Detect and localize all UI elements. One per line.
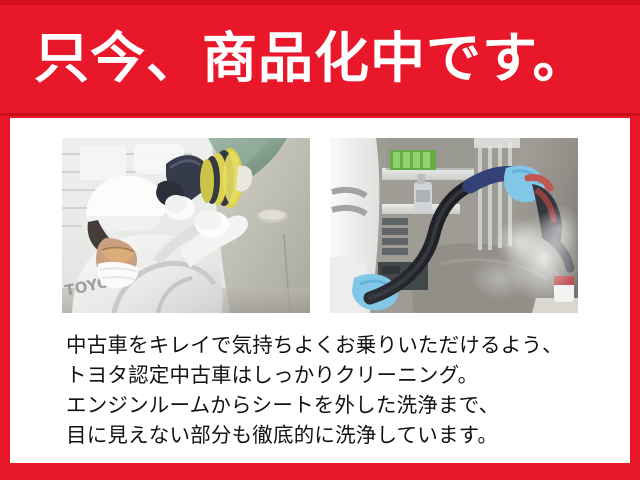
- body-line-3: エンジンルームからシートを外した洗浄まで、: [66, 390, 596, 420]
- body-line-4: 目に見えない部分も徹底的に洗浄しています。: [66, 420, 596, 450]
- photo-row: TOYOTA: [62, 138, 578, 313]
- content-card: TOYOTA: [10, 118, 630, 463]
- promo-poster: 只今、商品化中です。: [0, 0, 640, 480]
- body-line-1: 中古車をキレイで気持ちよくお乗りいただけるよう、: [66, 330, 596, 360]
- polishing-photo-image: TOYOTA: [62, 138, 310, 313]
- body-line-2: トヨタ認定中古車はしっかりクリーニング。: [66, 360, 596, 390]
- page-title: 只今、商品化中です。: [34, 31, 589, 86]
- steam-cleaning-photo: [330, 138, 578, 313]
- headline-band: 只今、商品化中です。: [0, 0, 640, 116]
- polishing-photo: TOYOTA: [62, 138, 310, 313]
- steam-cleaning-photo-image: [330, 138, 578, 313]
- headline-divider: [0, 113, 640, 116]
- body-copy: 中古車をキレイで気持ちよくお乗りいただけるよう、 トヨタ認定中古車はしっかりクリ…: [66, 330, 596, 450]
